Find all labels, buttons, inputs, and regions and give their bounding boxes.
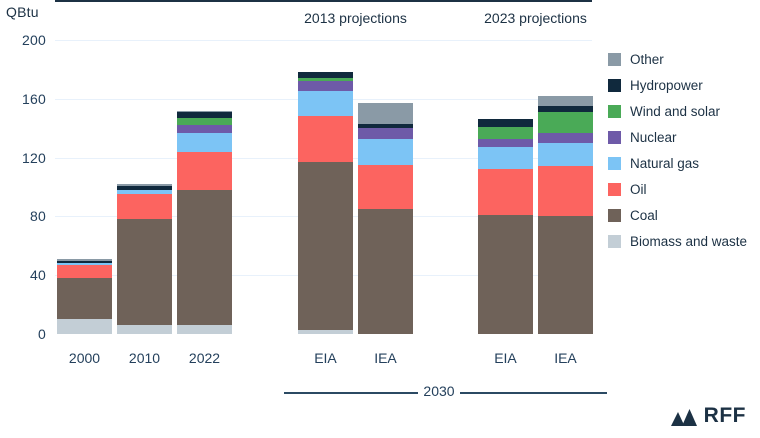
bar-segment-oil[interactable] [298,116,353,162]
x-label-IEA-4: IEA [351,350,421,366]
bar-segment-natural-gas[interactable] [358,139,413,165]
bar-segment-coal[interactable] [117,219,172,325]
bar-segment-nuclear[interactable] [177,125,232,132]
legend-label: Hydropower [630,78,703,93]
bar-segment-biomass-and-waste[interactable] [298,330,353,334]
bar-segment-coal[interactable] [358,209,413,334]
bar-segment-biomass-and-waste[interactable] [177,325,232,334]
legend-item-biomass-and-waste[interactable]: Biomass and waste [608,234,747,249]
legend-label: Other [630,52,664,67]
bar-EIA-5[interactable] [478,119,533,334]
bar-segment-other[interactable] [358,103,413,124]
legend-item-natural-gas[interactable]: Natural gas [608,156,747,171]
bar-segment-wind-and-solar[interactable] [478,127,533,139]
bar-segment-coal[interactable] [538,216,593,334]
legend-item-wind-and-solar[interactable]: Wind and solar [608,104,747,119]
legend-swatch-icon [608,209,621,222]
bar-2010-1[interactable] [117,184,172,334]
group-title-1: 2023 projections [456,10,616,26]
bar-segment-nuclear[interactable] [478,139,533,148]
bar-segment-oil[interactable] [117,194,172,219]
legend-label: Wind and solar [630,104,720,119]
legend-swatch-icon [608,157,621,170]
bar-segment-natural-gas[interactable] [298,91,353,116]
bar-segment-coal[interactable] [177,190,232,325]
x-label-IEA-6: IEA [531,350,601,366]
legend-item-other[interactable]: Other [608,52,747,67]
bar-segment-coal[interactable] [298,162,353,330]
bar-2000-0[interactable] [57,259,112,334]
bar-EIA-3[interactable] [298,72,353,334]
bracket-line-right [460,392,607,394]
chart-legend: OtherHydropowerWind and solarNuclearNatu… [608,52,747,249]
bar-segment-coal[interactable] [478,215,533,334]
mountain-icon [671,406,697,426]
group-title-0: 2013 projections [276,10,436,26]
legend-swatch-icon [608,105,621,118]
legend-swatch-icon [608,131,621,144]
bar-segment-oil[interactable] [478,169,533,215]
legend-label: Coal [630,208,658,223]
bar-segment-natural-gas[interactable] [538,143,593,167]
bar-segment-coal[interactable] [57,278,112,319]
bar-segment-oil[interactable] [177,152,232,190]
bar-segment-wind-and-solar[interactable] [177,118,232,125]
bar-IEA-4[interactable] [358,103,413,334]
legend-label: Biomass and waste [630,234,747,249]
bar-segment-oil[interactable] [57,265,112,278]
bar-segment-hydropower[interactable] [478,119,533,126]
bar-2022-2[interactable] [177,111,232,334]
bar-segment-nuclear[interactable] [298,81,353,91]
legend-item-nuclear[interactable]: Nuclear [608,130,747,145]
legend-swatch-icon [608,235,621,248]
bar-segment-oil[interactable] [358,165,413,209]
x-label-2022-2: 2022 [170,350,240,366]
bracket-label-2030: 2030 [409,383,469,399]
bar-segment-biomass-and-waste[interactable] [117,325,172,334]
legend-item-coal[interactable]: Coal [608,208,747,223]
bar-segment-oil[interactable] [538,166,593,216]
bar-segment-biomass-and-waste[interactable] [57,319,112,334]
legend-swatch-icon [608,79,621,92]
bar-segment-natural-gas[interactable] [478,147,533,169]
bar-segment-nuclear[interactable] [358,128,413,138]
bar-segment-natural-gas[interactable] [177,133,232,152]
legend-item-hydropower[interactable]: Hydropower [608,78,747,93]
legend-swatch-icon [608,183,621,196]
bar-segment-nuclear[interactable] [538,133,593,143]
logo-text: RFF [704,404,746,428]
legend-swatch-icon [608,53,621,66]
rff-logo: RFF [671,404,746,428]
bar-segment-other[interactable] [538,96,593,106]
energy-mix-stacked-bar-chart: QBtu 04080120160200 200020102022EIAIEAEI… [0,0,760,438]
legend-label: Nuclear [630,130,677,145]
legend-label: Natural gas [630,156,699,171]
legend-label: Oil [630,182,647,197]
bar-segment-wind-and-solar[interactable] [538,112,593,133]
legend-item-oil[interactable]: Oil [608,182,747,197]
bar-IEA-6[interactable] [538,96,593,334]
bracket-line-left [284,392,418,394]
